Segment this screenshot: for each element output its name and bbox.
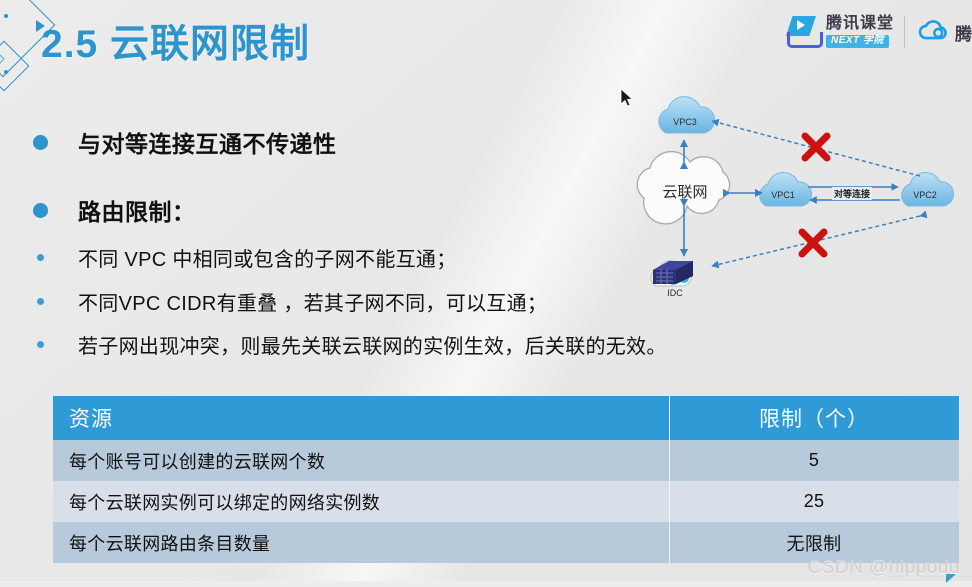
next-academy-badge: NEXT 学院: [826, 35, 889, 48]
mouse-cursor-icon: [620, 88, 634, 108]
logo-divider: [904, 16, 905, 48]
bullet-sub-label: 不同VPC CIDR有重叠 ，若其子网不同，可以互通；: [78, 287, 547, 316]
blocked-x-icon: [802, 232, 824, 254]
cell-limit: 25: [669, 481, 959, 522]
bullet-subdot-icon: [37, 341, 44, 348]
bottom-bar: [0, 581, 972, 587]
vpc1-label: VPC1: [764, 190, 802, 200]
slide-canvas: 2.5 云联网限制 腾讯课堂 NEXT 学院 腾 与对等连接互通不传递性 路由限…: [0, 0, 972, 587]
bullet-sub-label: 若子网出现冲突，则最先关联云联网的实例生效，后关联的无效。: [78, 330, 667, 359]
tencent-classroom-label: 腾讯课堂: [826, 16, 894, 32]
bullet-dot-icon: [33, 203, 48, 218]
table-row: 每个账号可以创建的云联网个数 5: [53, 440, 959, 481]
tencent-cloud-label: 腾: [955, 20, 972, 45]
bullet-item-main: 路由限制：: [33, 193, 196, 227]
limits-table: 资源 限制（个） 每个账号可以创建的云联网个数 5 每个云联网实例可以绑定的网络…: [53, 396, 959, 563]
bullet-item-main: 与对等连接互通不传递性: [33, 125, 337, 159]
vpc3-label: VPC3: [666, 117, 704, 127]
bullet-item-sub: 若子网出现冲突，则最先关联云联网的实例生效，后关联的无效。: [33, 330, 667, 359]
idc-datacenter-icon: [651, 261, 693, 286]
bullet-item-sub: 不同 VPC 中相同或包含的子网不能互通；: [33, 243, 457, 272]
bullet-main-label: 路由限制：: [78, 193, 196, 227]
cell-resource: 每个账号可以创建的云联网个数: [53, 440, 669, 481]
vpc3-cloud-icon: [659, 97, 715, 133]
page-title: 2.5 云联网限制: [41, 13, 310, 69]
decoration-dot-icon: [4, 14, 8, 18]
bullet-subdot-icon: [37, 298, 44, 305]
peering-connection-label: 对等连接: [832, 187, 872, 200]
cloud-icon: [915, 19, 951, 45]
brand-logos: 腾讯课堂 NEXT 学院 腾: [786, 16, 972, 48]
table-row: 每个云联网实例可以绑定的网络实例数 25: [53, 481, 959, 522]
vpc2-label: VPC2: [906, 190, 944, 200]
cell-resource: 每个云联网路由条目数量: [53, 522, 669, 563]
tencent-cloud-logo: 腾: [915, 19, 972, 45]
table-row: 每个云联网路由条目数量 无限制: [53, 522, 959, 563]
network-topology-diagram: VPC3 云联网 VPC1 VPC2 IDC 对等连接: [620, 88, 972, 320]
idc-label: IDC: [658, 288, 692, 298]
bullet-subdot-icon: [37, 254, 44, 261]
corner-triangle-icon: [946, 574, 956, 583]
cell-resource: 每个云联网实例可以绑定的网络实例数: [53, 481, 669, 522]
ccn-label: 云联网: [652, 181, 718, 202]
graduation-cap-play-icon: [786, 16, 820, 48]
table-header-row: 资源 限制（个）: [53, 396, 959, 440]
table-header-limit: 限制（个）: [669, 396, 959, 440]
decoration-dot-icon: [4, 70, 8, 74]
bullet-sub-label: 不同 VPC 中相同或包含的子网不能互通；: [78, 243, 457, 272]
table-header-resource: 资源: [53, 396, 669, 440]
bullet-dot-icon: [33, 135, 48, 150]
tencent-classroom-logo: 腾讯课堂 NEXT 学院: [786, 16, 894, 48]
cell-limit: 无限制: [669, 522, 959, 563]
bullet-main-label: 与对等连接互通不传递性: [78, 125, 337, 159]
bullet-item-sub: 不同VPC CIDR有重叠 ，若其子网不同，可以互通；: [33, 287, 547, 316]
cell-limit: 5: [669, 440, 959, 481]
